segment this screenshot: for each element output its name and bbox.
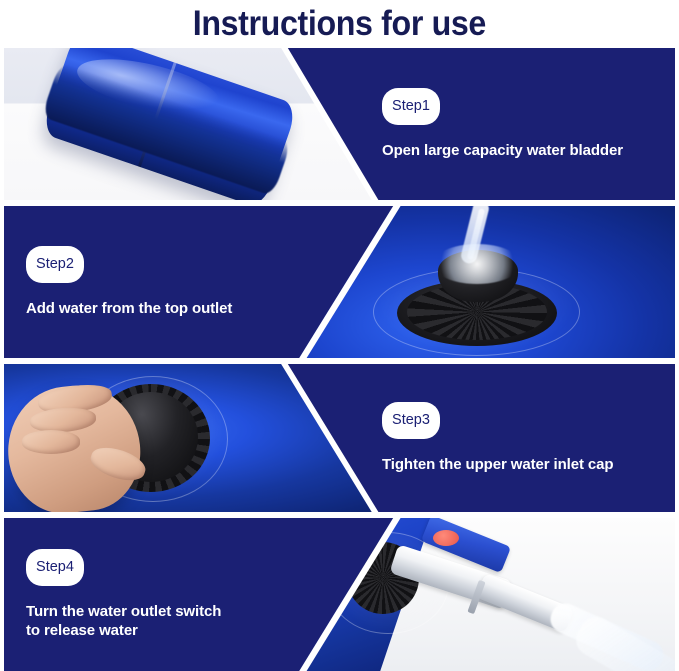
step-badge-1: Step1 — [382, 88, 440, 126]
step-badge-2: Step2 — [26, 246, 84, 284]
step-panel-2: Step2 Add water from the top outlet — [4, 206, 675, 358]
water-splash — [433, 244, 521, 284]
page-title: Instructions for use — [193, 4, 486, 44]
step-badge-3: Step3 — [382, 402, 440, 440]
step-panel-3: Step3 Tighten the upper water inlet cap — [4, 364, 675, 512]
step-caption-2: Add water from the top outlet — [26, 299, 356, 318]
step-caption-1: Open large capacity water bladder — [382, 141, 661, 160]
step-panel-1: Step1 Open large capacity water bladder — [4, 48, 675, 200]
step-4-text: Step4 Turn the water outlet switch to re… — [26, 518, 356, 671]
valve-lever-cap-dot — [433, 530, 459, 546]
step-3-text: Step3 Tighten the upper water inlet cap — [382, 364, 661, 512]
step-2-text: Step2 Add water from the top outlet — [26, 206, 356, 358]
step-caption-3: Tighten the upper water inlet cap — [382, 455, 661, 474]
instructions-page: Instructions for use Step1 Open large ca… — [0, 0, 679, 671]
step-badge-4: Step4 — [26, 549, 84, 587]
finger-ring — [22, 430, 80, 454]
step-1-text: Step1 Open large capacity water bladder — [382, 48, 661, 200]
page-header: Instructions for use — [0, 0, 679, 48]
step-panel-4: Step4 Turn the water outlet switch to re… — [4, 518, 675, 671]
step-caption-4: Turn the water outlet switch to release … — [26, 602, 356, 640]
